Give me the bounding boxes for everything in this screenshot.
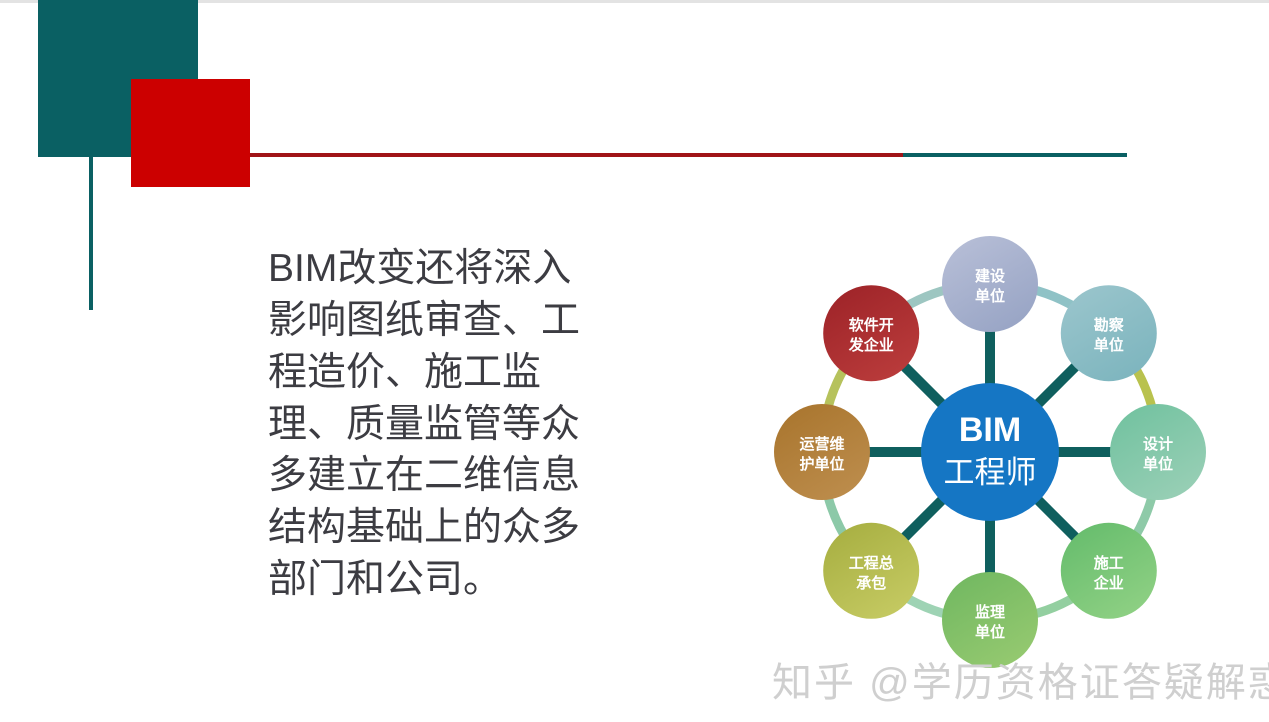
node-label-line2-construction-unit: 单位 (975, 287, 1005, 305)
node-supervision-unit[interactable]: 监理单位 (942, 572, 1038, 668)
node-construction-enterprise[interactable]: 施工企业 (1061, 523, 1157, 619)
node-label-line1-survey-unit: 勘察 (1094, 316, 1125, 334)
node-label-line1-operation-maintenance-unit: 运营维 (799, 435, 844, 453)
node-survey-unit[interactable]: 勘察单位 (1061, 285, 1157, 381)
node-label-line2-construction-enterprise: 企业 (1093, 574, 1124, 592)
node-label-line2-general-contracting: 承包 (856, 574, 886, 592)
center-hub[interactable]: BIM 工程师 (921, 383, 1059, 521)
node-label-line1-construction-unit: 建设 (975, 267, 1005, 285)
node-label-line1-software-development-enterprise: 软件开 (849, 316, 894, 334)
node-general-contracting[interactable]: 工程总承包 (823, 523, 919, 619)
node-label-line2-supervision-unit: 单位 (975, 623, 1005, 641)
node-label-line1-general-contracting: 工程总 (849, 554, 894, 572)
node-design-unit[interactable]: 设计单位 (1110, 404, 1206, 500)
center-subtitle: 工程师 (944, 455, 1037, 490)
node-label-line2-design-unit: 单位 (1143, 455, 1173, 473)
bim-wheel-svg: 建设单位勘察单位设计单位施工企业监理单位工程总承包运营维护单位软件开发企业 BI… (700, 175, 1269, 675)
decor-horizontal-red-rule (250, 153, 903, 157)
spoke-general-contracting (901, 498, 944, 541)
node-label-line1-supervision-unit: 监理 (975, 603, 1005, 621)
spoke-construction-enterprise (1036, 498, 1079, 541)
node-software-development-enterprise[interactable]: 软件开发企业 (823, 285, 919, 381)
spoke-software-development-enterprise (901, 363, 944, 406)
node-label-line1-construction-enterprise: 施工 (1094, 554, 1124, 572)
decor-horizontal-teal-rule (903, 153, 1127, 157)
node-operation-maintenance-unit[interactable]: 运营维护单位 (774, 404, 870, 500)
spoke-survey-unit (1036, 363, 1079, 406)
bim-wheel-diagram: 建设单位勘察单位设计单位施工企业监理单位工程总承包运营维护单位软件开发企业 BI… (700, 175, 1269, 675)
node-construction-unit[interactable]: 建设单位 (942, 236, 1038, 332)
center-circle[interactable] (921, 383, 1059, 521)
center-title: BIM (959, 411, 1021, 449)
body-paragraph: BIM改变还将深入影响图纸审查、工程造价、施工监理、质量监管等众多建立在二维信息… (268, 243, 580, 606)
node-label-line2-survey-unit: 单位 (1094, 336, 1124, 354)
decor-vertical-teal-rule (89, 157, 93, 310)
decor-red-square (131, 79, 250, 187)
node-label-line1-design-unit: 设计 (1143, 435, 1173, 453)
node-label-line2-software-development-enterprise: 发企业 (848, 336, 894, 354)
node-label-line2-operation-maintenance-unit: 护单位 (799, 455, 844, 473)
